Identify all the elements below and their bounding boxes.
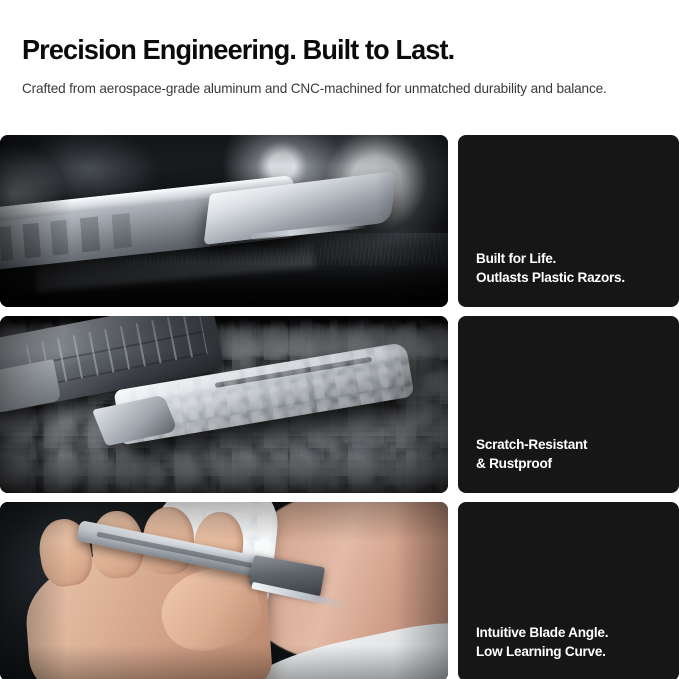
caption-panel-3: Intuitive Blade Angle. Low Learning Curv… [458,502,679,679]
photo-vignette [0,502,448,679]
caption-panel-2: Scratch-Resistant & Rustproof [458,316,679,493]
photo-vignette [0,316,448,493]
caption-line-secondary: Outlasts Plastic Razors. [476,269,663,288]
photo-vignette [0,135,448,307]
razor-on-counter-photo [0,135,448,307]
caption-line-primary: Scratch-Resistant [476,436,663,455]
feature-grid: Built for Life. Outlasts Plastic Razors.… [0,135,679,679]
page-subtitle: Crafted from aerospace-grade aluminum an… [22,79,622,99]
caption-line-secondary: & Rustproof [476,455,663,474]
header: Precision Engineering. Built to Last. Cr… [0,0,679,99]
product-feature-page: Precision Engineering. Built to Last. Cr… [0,0,679,679]
wet-razors-photo [0,316,448,493]
caption-panel-1: Built for Life. Outlasts Plastic Razors. [458,135,679,307]
shaving-in-hand-photo [0,502,448,679]
page-title: Precision Engineering. Built to Last. [22,34,647,66]
caption-line-secondary: Low Learning Curve. [476,643,663,662]
caption-line-primary: Built for Life. [476,250,663,269]
caption-line-primary: Intuitive Blade Angle. [476,624,663,643]
